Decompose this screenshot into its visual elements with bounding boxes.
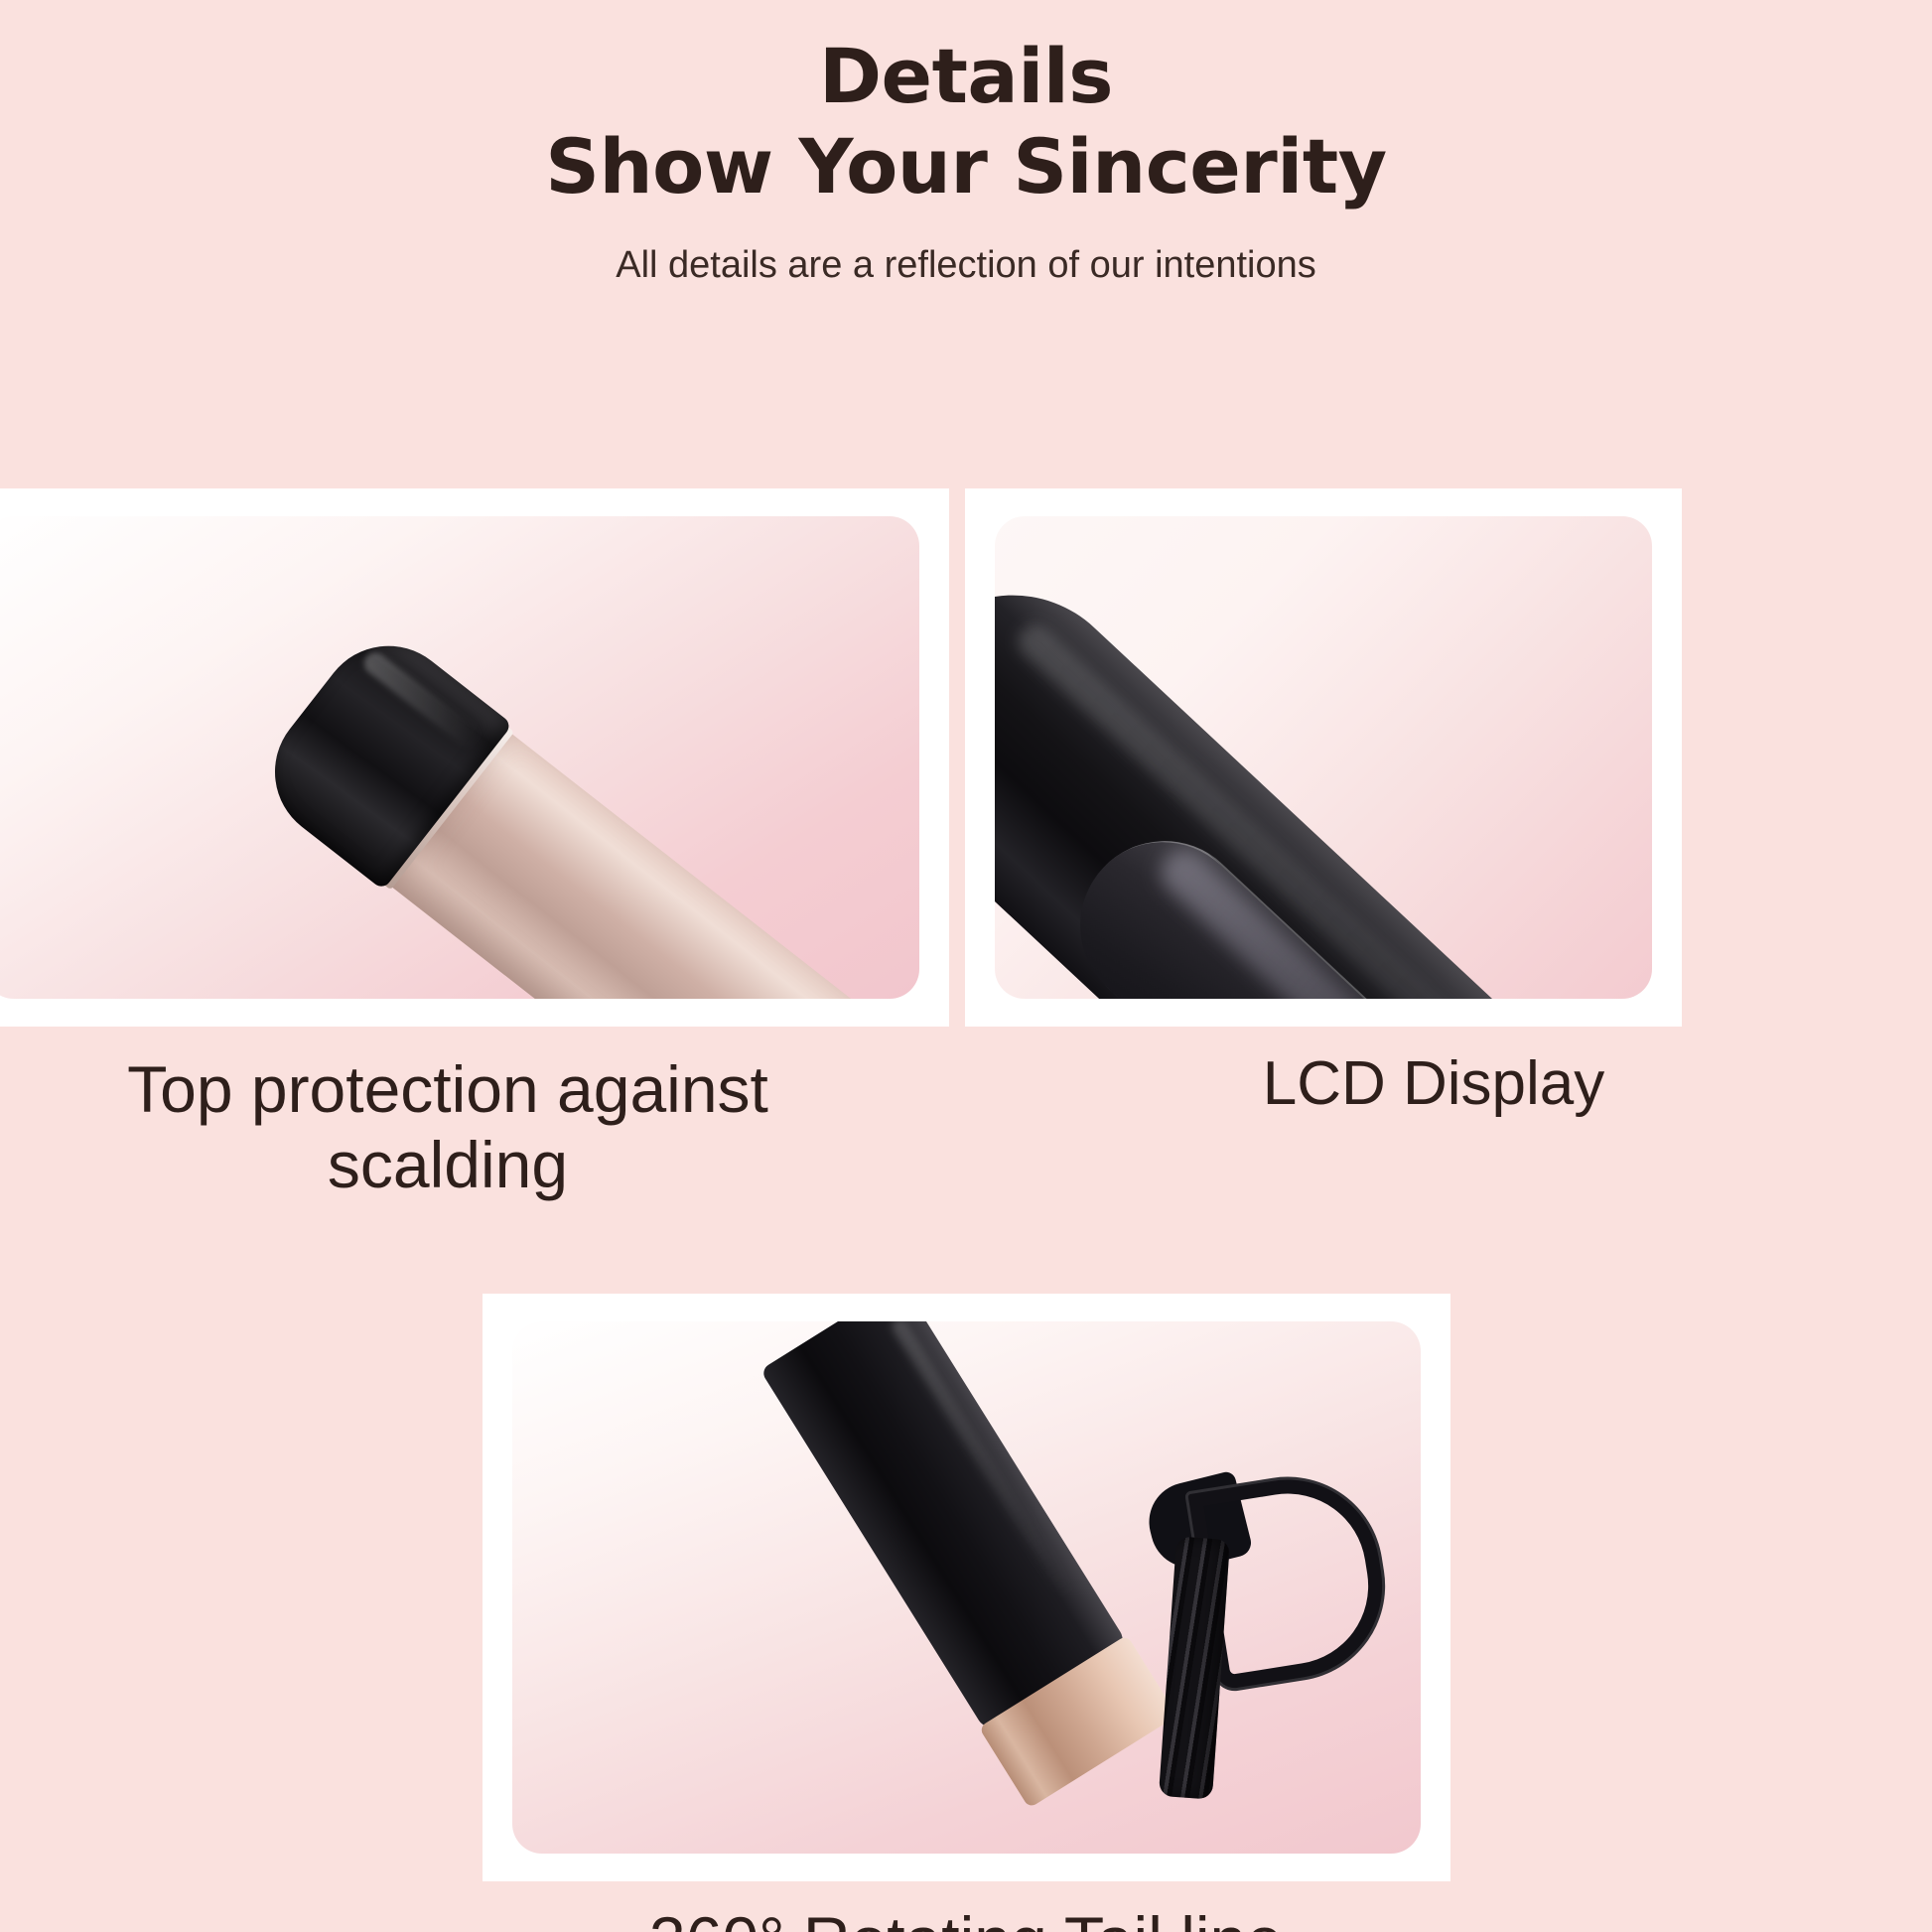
product-photo-cap [0, 516, 919, 999]
page-title-line2: Show Your Sincerity [0, 124, 1932, 208]
caption-rotating-tail: 360° Rotating Tail line [0, 1881, 1932, 1932]
caption-lcd-display: LCD Display [965, 1027, 1932, 1119]
feature-row-top: Top protection against scalding 230 °C [0, 488, 1932, 1203]
cap-highlight [359, 648, 483, 753]
curling-wand-body-graphic: 230 °C [995, 546, 1652, 999]
page-header: Details Show Your Sincerity All details … [0, 0, 1932, 287]
product-photo-tail [512, 1321, 1421, 1854]
handle-highlight [889, 1321, 1075, 1602]
curling-wand-graphic [252, 624, 919, 999]
swivel-cord-graphic [901, 1321, 1421, 1798]
image-frame: 230 °C [965, 488, 1682, 1027]
page-subtitle: All details are a reflection of our inte… [0, 244, 1932, 287]
page-title-line1: Details [0, 34, 1932, 118]
image-frame [0, 488, 949, 1027]
feature-card-rotating-tail [483, 1294, 1450, 1881]
feature-card-top-protection: Top protection against scalding [0, 488, 965, 1203]
caption-top-protection: Top protection against scalding [0, 1027, 965, 1203]
product-photo-lcd: 230 °C [995, 516, 1652, 999]
caption-wrap-rotating-tail: 360° Rotating Tail line [0, 1881, 1932, 1932]
image-frame [483, 1294, 1450, 1881]
power-cord [1158, 1536, 1229, 1799]
feature-row-bottom [0, 1294, 1932, 1881]
feature-card-lcd-display: 230 °C LCD Display [965, 488, 1932, 1203]
